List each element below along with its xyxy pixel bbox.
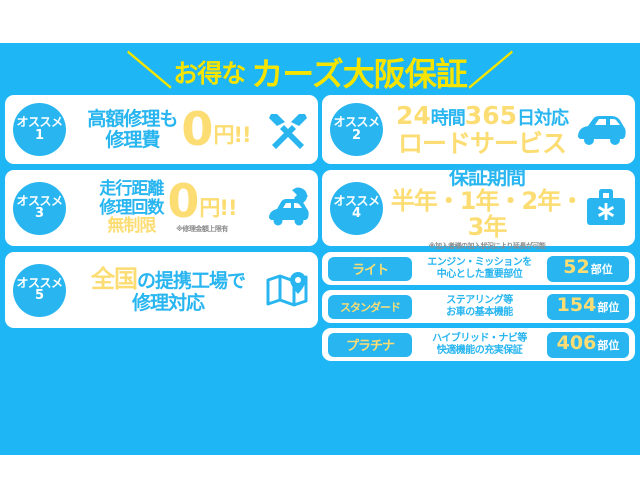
card5-line1-rest: の提携工場で xyxy=(137,270,245,292)
header-small-text: お得な xyxy=(173,54,245,90)
card3-price-value: 0 xyxy=(167,182,199,221)
plan-desc-line1: ハイブリッド・ナビ等 xyxy=(417,333,542,345)
hammer-tools-icon xyxy=(266,109,310,151)
card4-line2: 半年・1年・2年・3年 xyxy=(389,188,585,241)
plan-count-value: 406 xyxy=(557,332,597,354)
recommend-badge-1: オススメ 1 xyxy=(13,103,66,156)
plan-count-value: 154 xyxy=(557,294,597,316)
badge-number: 4 xyxy=(352,207,361,221)
recommend-badge-3: オススメ 3 xyxy=(13,182,66,235)
card5-highlight: 全国 xyxy=(91,265,137,293)
card2-hours-unit: 時間 xyxy=(431,108,465,129)
plan-count-value: 52 xyxy=(563,256,589,278)
recommend-badge-5: オススメ 5 xyxy=(13,264,66,317)
plan-count-unit: 部位 xyxy=(597,337,619,353)
plan-count-badge: 154 部位 xyxy=(547,294,629,320)
wrench-car-icon xyxy=(264,186,310,230)
card2-line2: ロードサービス xyxy=(396,130,568,158)
page-title: カーズ大阪保証 xyxy=(251,49,466,95)
plan-row-platinum[interactable]: プラチナ ハイブリッド・ナビ等 快適機能の充実保証 406 部位 xyxy=(322,328,635,361)
plan-count-badge: 52 部位 xyxy=(547,256,629,282)
feature-grid: オススメ 1 高額修理も 修理費 0 円!! xyxy=(0,95,640,361)
card3-line2: 修理回数 xyxy=(99,199,163,218)
feature-card-2: オススメ 2 24時間365日対応 ロードサービス xyxy=(322,95,635,164)
badge-number: 2 xyxy=(352,129,361,143)
plan-description: ハイブリッド・ナビ等 快適機能の充実保証 xyxy=(417,333,542,356)
card4-note: ※加入者様の加入状況により延長が可能 xyxy=(389,243,585,251)
card3-price-unit: 円!! xyxy=(199,192,236,222)
badge-number: 3 xyxy=(35,207,44,221)
plan-count-unit: 部位 xyxy=(591,261,613,277)
plan-desc-line1: エンジン・ミッションを xyxy=(417,257,542,269)
slash-right-icon: ／ xyxy=(466,52,513,91)
badge-number: 5 xyxy=(35,289,44,303)
card1-line1: 高額修理も xyxy=(87,109,177,130)
plan-count-unit: 部位 xyxy=(597,299,619,315)
card5-line1: 全国の提携工場で xyxy=(91,266,245,292)
recommend-badge-4: オススメ 4 xyxy=(330,182,383,235)
plan-name-badge: プラチナ xyxy=(328,333,412,357)
plan-desc-line2: 中心とした重要部位 xyxy=(417,269,542,281)
card3-line3: 無制限 xyxy=(99,217,163,236)
plan-count-badge: 406 部位 xyxy=(547,332,629,358)
plan-row-standard[interactable]: スタンダード ステアリング等 お車の基本機能 154 部位 xyxy=(322,290,635,323)
card2-line1: 24時間365日対応 xyxy=(396,102,568,130)
banner-header: ＼ お得な カーズ大阪保証 ／ xyxy=(0,43,640,95)
recommend-badge-2: オススメ 2 xyxy=(330,103,383,156)
card3-line1: 走行距離 xyxy=(99,180,163,199)
card2-days: 365 xyxy=(465,101,517,130)
plan-list: ライト エンジン・ミッションを 中心とした重要部位 52 部位 スタンダード ス… xyxy=(322,252,635,361)
card1-price-value: 0 xyxy=(181,110,213,149)
advertisement-banner: ＼ お得な カーズ大阪保証 ／ オススメ 1 高額修理も 修理費 0 xyxy=(0,0,640,480)
badge-number: 1 xyxy=(35,129,44,143)
plan-desc-line1: ステアリング等 xyxy=(417,295,542,307)
feature-card-5: オススメ 5 全国の提携工場で 修理対応 xyxy=(5,252,318,328)
plan-name-badge: ライト xyxy=(328,257,412,281)
car-icon xyxy=(575,113,627,147)
feature-card-3: オススメ 3 走行距離 修理回数 無制限 0 円!! ※修理金額上限有 xyxy=(5,170,318,246)
feature-card-4: オススメ 4 保証期間 半年・1年・2年・3年 ※加入者様の加入状況により延長が… xyxy=(322,170,635,246)
card4-line1: 保証期間 xyxy=(389,166,585,188)
feature-card-1: オススメ 1 高額修理も 修理費 0 円!! xyxy=(5,95,318,164)
card5-line2: 修理対応 xyxy=(91,293,245,314)
plan-name-badge: スタンダード xyxy=(328,295,412,319)
toolbox-icon xyxy=(585,188,627,228)
card2-hours: 24 xyxy=(396,101,431,130)
banner-body: ＼ お得な カーズ大阪保証 ／ オススメ 1 高額修理も 修理費 0 xyxy=(0,43,640,455)
plan-desc-line2: 快適機能の充実保証 xyxy=(417,345,542,357)
card3-note: ※修理金額上限有 xyxy=(176,224,228,234)
card1-line2: 修理費 xyxy=(87,130,177,151)
plan-desc-line2: お車の基本機能 xyxy=(417,307,542,319)
map-pin-icon xyxy=(264,270,310,310)
slash-left-icon: ＼ xyxy=(127,52,174,91)
plan-description: ステアリング等 お車の基本機能 xyxy=(417,295,542,318)
plan-row-light[interactable]: ライト エンジン・ミッションを 中心とした重要部位 52 部位 xyxy=(322,252,635,285)
card2-days-unit: 日対応 xyxy=(517,108,568,129)
card1-price-unit: 円!! xyxy=(213,119,250,149)
plan-description: エンジン・ミッションを 中心とした重要部位 xyxy=(417,257,542,280)
